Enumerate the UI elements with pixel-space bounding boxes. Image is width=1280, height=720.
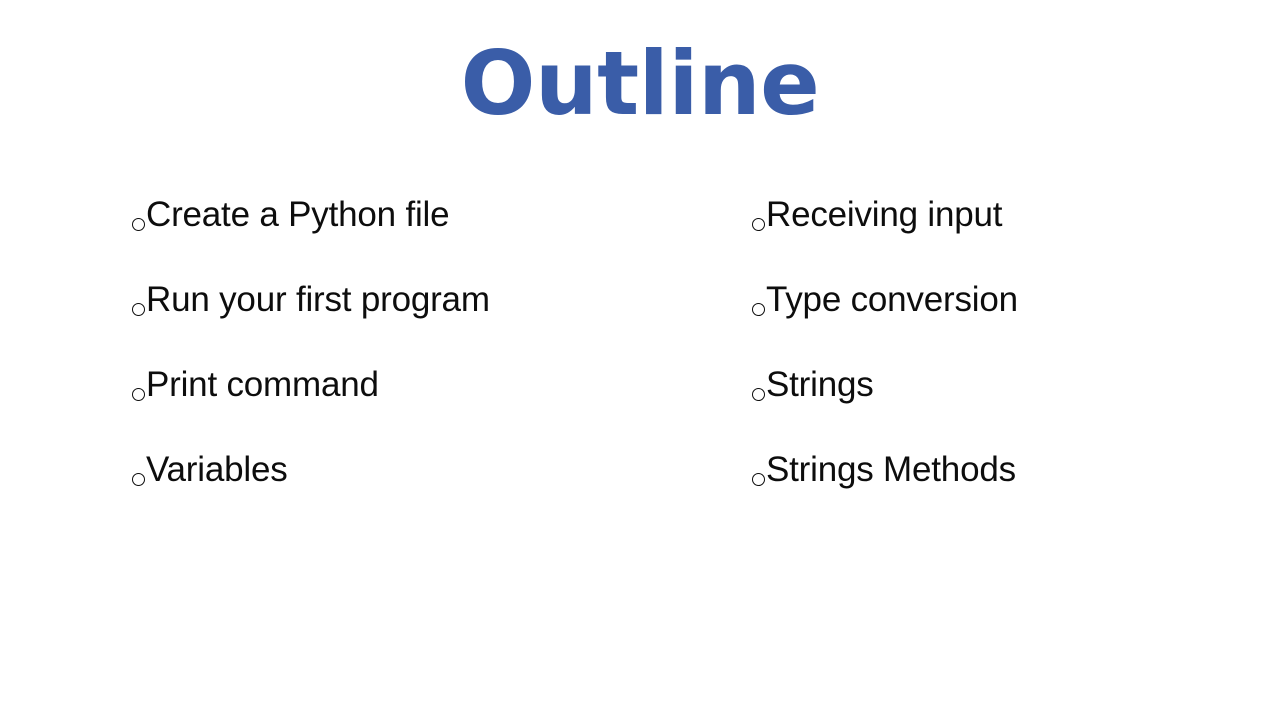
list-item-label: Run your first program: [146, 281, 490, 318]
hollow-circle-bullet-icon: [751, 451, 766, 488]
list-item[interactable]: Strings: [751, 366, 1271, 451]
list-item[interactable]: Run your first program: [131, 281, 731, 366]
page-title: Outline: [0, 0, 1280, 168]
hollow-circle-bullet-icon: [751, 281, 766, 318]
outline-column-left: Create a Python file Run your first prog…: [131, 196, 731, 536]
list-item[interactable]: Strings Methods: [751, 451, 1271, 536]
hollow-circle-bullet-icon: [131, 366, 146, 403]
list-item[interactable]: Variables: [131, 451, 731, 536]
list-item[interactable]: Receiving input: [751, 196, 1271, 281]
list-item-label: Strings: [766, 366, 874, 403]
hollow-circle-bullet-icon: [751, 196, 766, 233]
list-item-label: Strings Methods: [766, 451, 1016, 488]
hollow-circle-bullet-icon: [131, 281, 146, 318]
hollow-circle-bullet-icon: [751, 366, 766, 403]
list-item-label: Create a Python file: [146, 196, 449, 233]
list-item-label: Type conversion: [766, 281, 1018, 318]
list-item-label: Variables: [146, 451, 288, 488]
list-item[interactable]: Type conversion: [751, 281, 1271, 366]
list-item[interactable]: Print command: [131, 366, 731, 451]
hollow-circle-bullet-icon: [131, 196, 146, 233]
list-item-label: Print command: [146, 366, 379, 403]
outline-content: Create a Python file Run your first prog…: [0, 196, 1280, 556]
list-item-label: Receiving input: [766, 196, 1002, 233]
outline-column-right: Receiving input Type conversion Strings …: [751, 196, 1271, 536]
slide-canvas: Outline Create a Python file Run your fi…: [0, 0, 1280, 720]
hollow-circle-bullet-icon: [131, 451, 146, 488]
list-item[interactable]: Create a Python file: [131, 196, 731, 281]
